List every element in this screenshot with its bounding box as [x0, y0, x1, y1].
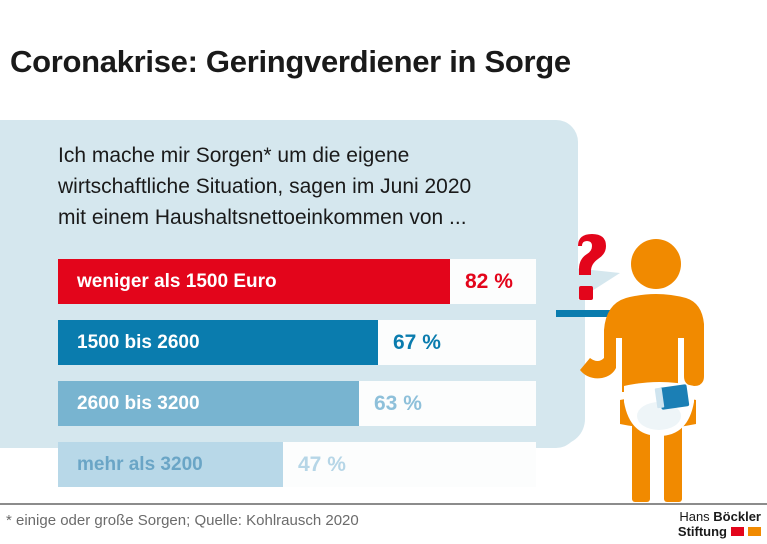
- notepad: [655, 384, 690, 410]
- bar-row: 2600 bis 320063 %: [58, 381, 536, 426]
- bar-fill: 2600 bis 3200: [58, 381, 359, 426]
- bar-row: weniger als 1500 Euro82 %: [58, 259, 536, 304]
- bar-chart: weniger als 1500 Euro82 %1500 bis 260067…: [58, 259, 536, 503]
- chart-subtitle: Ich mache mir Sorgen* um die eigene wirt…: [58, 140, 528, 233]
- bar-fill: 1500 bis 2600: [58, 320, 378, 365]
- bar-value-label: 82 %: [450, 259, 513, 304]
- logo-hans: Hans: [679, 509, 713, 524]
- waiter-figure: [580, 239, 704, 502]
- hans-boeckler-stiftung-logo: Hans Böckler Stiftung: [678, 509, 761, 539]
- bar-value-label: 63 %: [359, 381, 422, 426]
- bar-category-label: 1500 bis 2600: [58, 332, 200, 354]
- waiter-illustration: [556, 228, 767, 508]
- subtitle-line-1: Ich mache mir Sorgen* um die eigene: [58, 140, 528, 171]
- bar-category-label: 2600 bis 3200: [58, 393, 200, 415]
- logo-swatch-orange: [748, 527, 761, 536]
- bar-value-label: 47 %: [283, 442, 346, 487]
- bar-category-label: weniger als 1500 Euro: [58, 271, 277, 293]
- bar-row: 1500 bis 260067 %: [58, 320, 536, 365]
- subtitle-line-2: wirtschaftliche Situation, sagen im Juni…: [58, 171, 528, 202]
- question-mark-icon: [578, 234, 606, 300]
- footer-divider: [0, 503, 767, 505]
- logo-line-2: Stiftung: [678, 524, 761, 539]
- bar-row: mehr als 320047 %: [58, 442, 536, 487]
- logo-stiftung: Stiftung: [678, 524, 727, 539]
- logo-line-1: Hans Böckler: [678, 509, 761, 524]
- bar-value-label: 67 %: [378, 320, 441, 365]
- bar-fill: mehr als 3200: [58, 442, 283, 487]
- bar-category-label: mehr als 3200: [58, 454, 203, 476]
- subtitle-line-3: mit einem Haushaltsnettoeinkommen von ..…: [58, 202, 528, 233]
- footnote: * einige oder große Sorgen; Quelle: Kohl…: [6, 512, 359, 529]
- logo-boeckler: Böckler: [713, 509, 761, 524]
- logo-swatch-red: [731, 527, 744, 536]
- page-title: Coronakrise: Geringverdiener in Sorge: [10, 44, 571, 80]
- bar-fill: weniger als 1500 Euro: [58, 259, 450, 304]
